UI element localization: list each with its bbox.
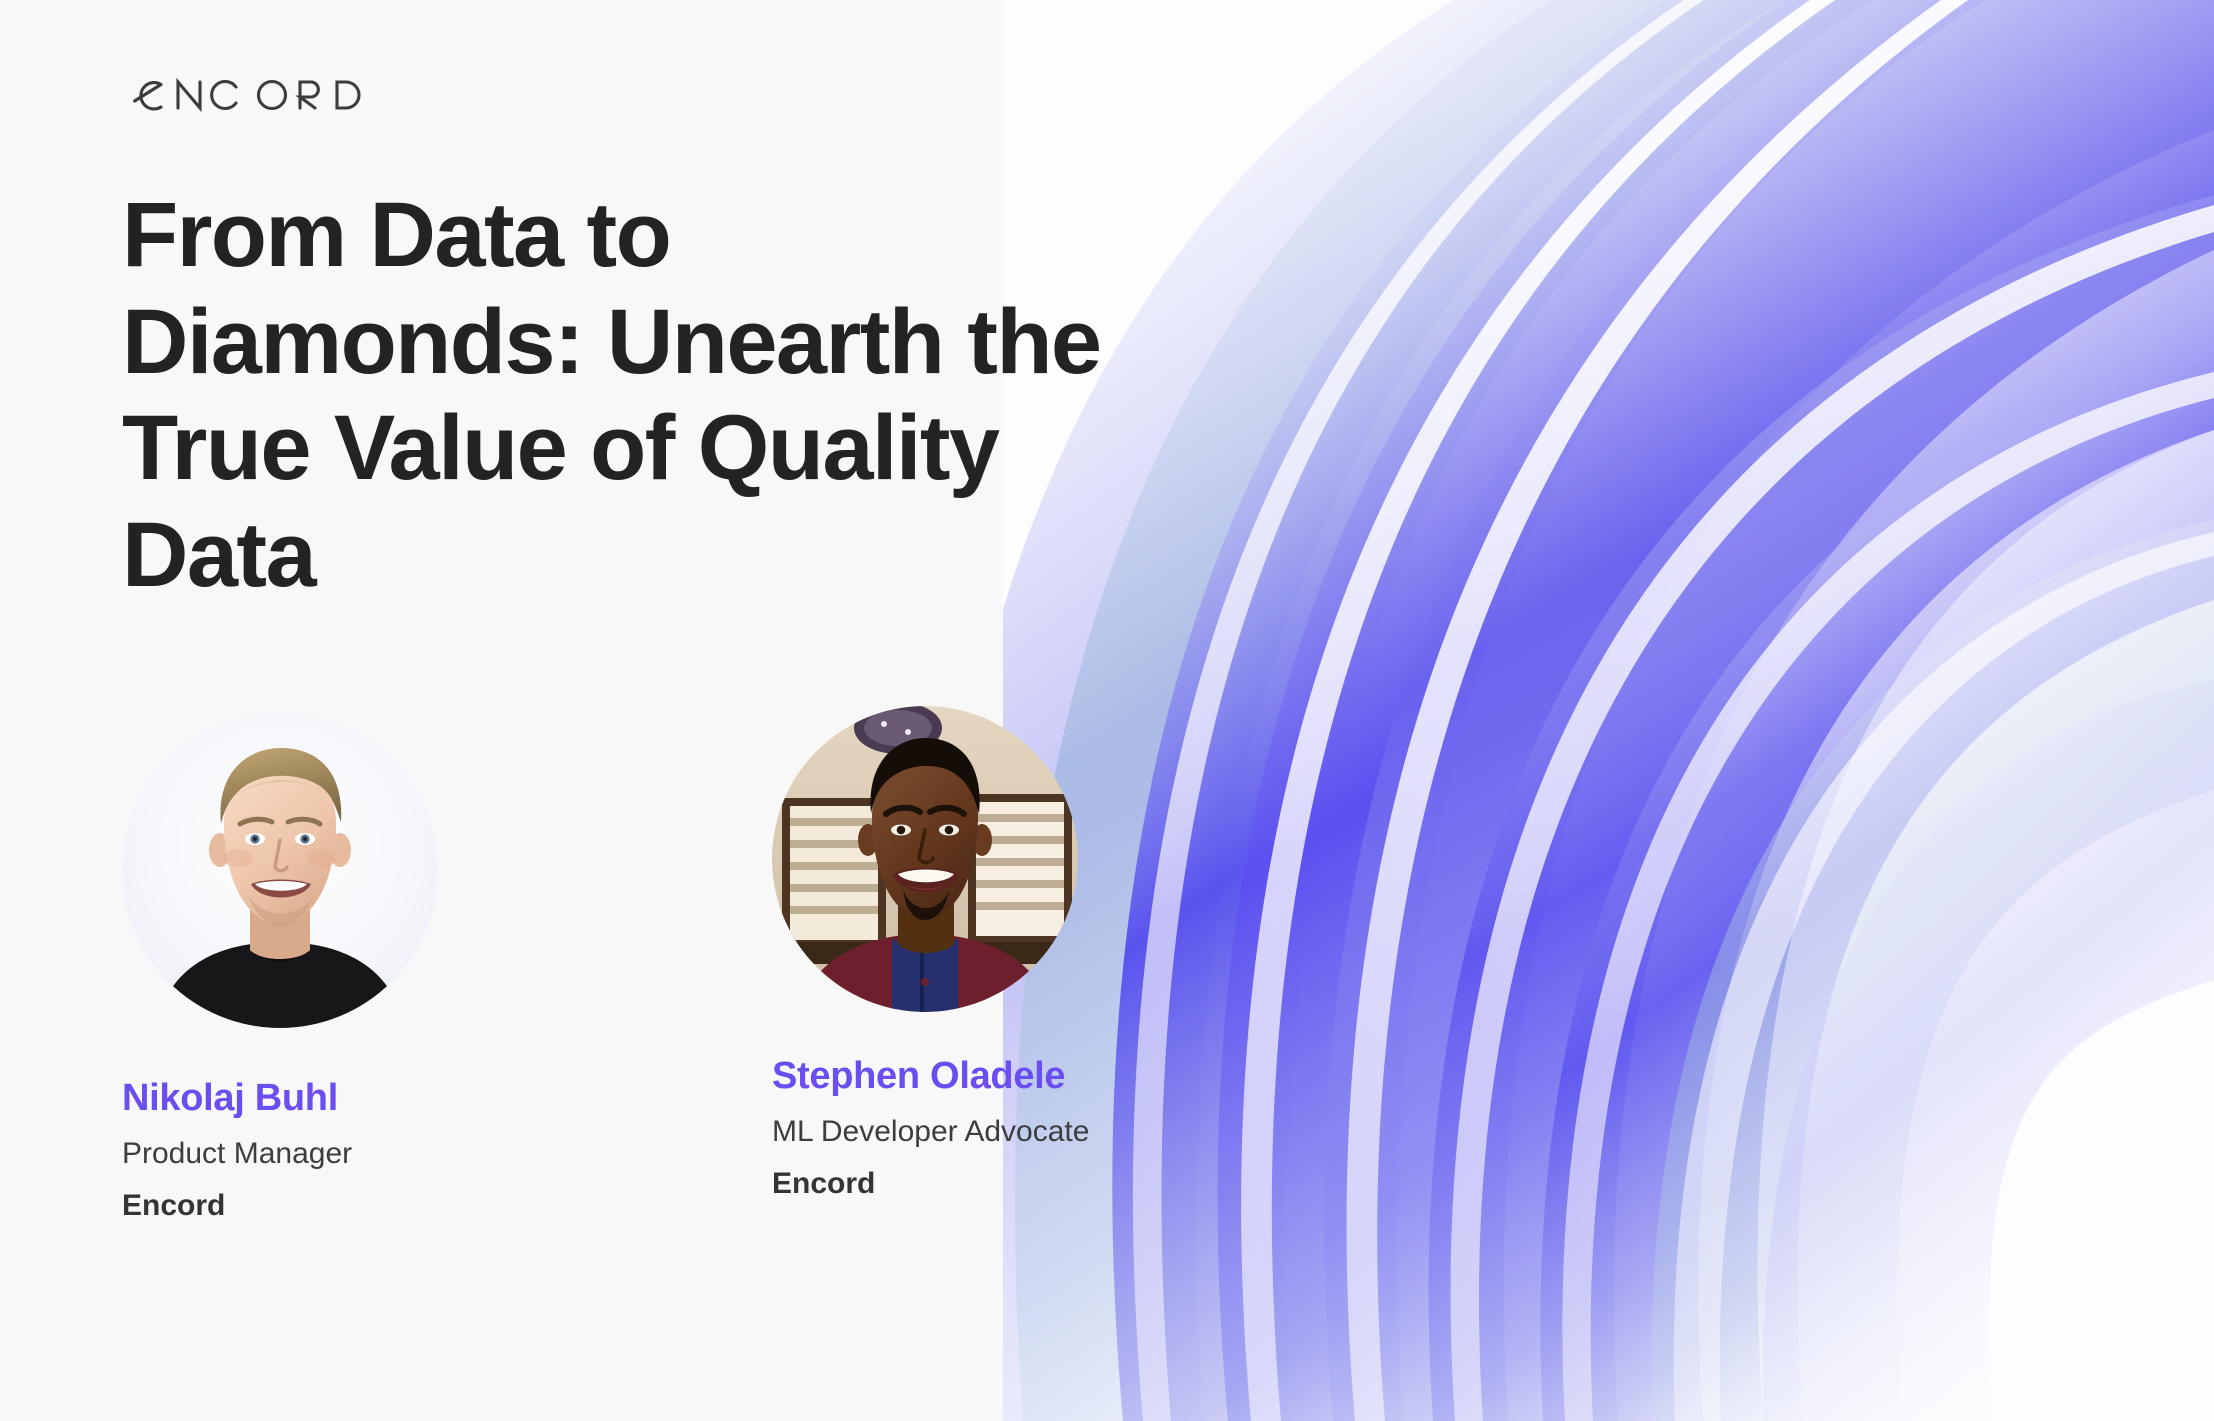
- speaker-name: Stephen Oladele: [772, 1054, 1232, 1100]
- encord-e-mark: [135, 83, 161, 109]
- decorative-artwork: [1003, 0, 2214, 1421]
- avatar: [772, 706, 1078, 1012]
- page-title: From Data to Diamonds: Unearth the True …: [122, 182, 1132, 609]
- speaker-card: Stephen Oladele ML Developer Advocate En…: [772, 712, 1232, 1202]
- speaker-list: Nikolaj Buhl Product Manager Encord: [122, 712, 1172, 1272]
- speaker-company: Encord: [122, 1188, 582, 1224]
- speaker-role: ML Developer Advocate: [772, 1114, 1232, 1150]
- speaker-role: Product Manager: [122, 1136, 582, 1172]
- speaker-name: Nikolaj Buhl: [122, 1076, 582, 1122]
- speaker-card: Nikolaj Buhl Product Manager Encord: [122, 712, 582, 1224]
- avatar-image-nikolaj-buhl: [122, 712, 438, 1028]
- avatar: [122, 712, 438, 1028]
- encord-logo[interactable]: [122, 68, 418, 116]
- avatar-image-stephen-oladele: [772, 706, 1078, 1012]
- speaker-company: Encord: [772, 1166, 1232, 1202]
